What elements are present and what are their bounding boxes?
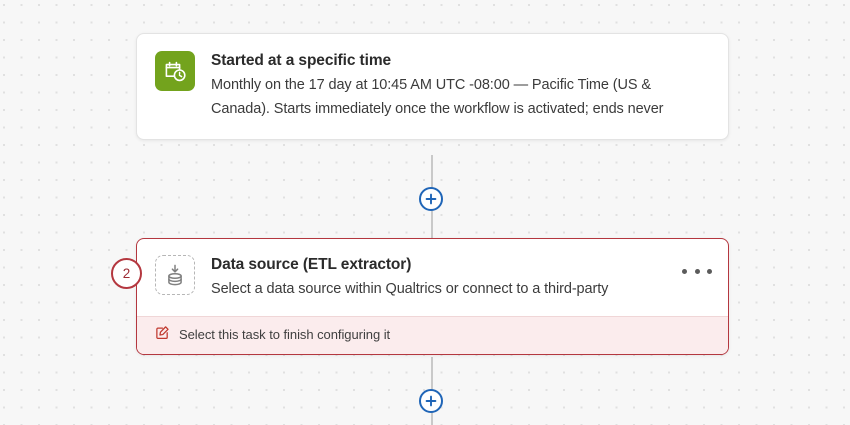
workflow-node-trigger[interactable]: Started at a specific time Monthly on th… [136, 33, 729, 140]
task-validation-text: Select this task to finish configuring i… [179, 327, 390, 342]
task-card-body: Data source (ETL extractor) Select a dat… [137, 239, 728, 316]
ellipsis-dot [695, 269, 700, 274]
ellipsis-dot [707, 269, 712, 274]
workflow-canvas: Started at a specific time Monthly on th… [0, 0, 850, 425]
calendar-clock-icon [155, 51, 195, 91]
task-card-text: Data source (ETL extractor) Select a dat… [211, 255, 710, 302]
edit-pencil-icon [155, 325, 170, 345]
trigger-card-body: Started at a specific time Monthly on th… [155, 51, 710, 121]
database-download-icon [155, 255, 195, 295]
task-description: Select a data source within Qualtrics or… [211, 278, 648, 302]
workflow-node-task[interactable]: Data source (ETL extractor) Select a dat… [136, 238, 729, 355]
plus-icon [425, 193, 437, 205]
add-step-button-2[interactable] [419, 389, 443, 413]
trigger-description: Monthly on the 17 day at 10:45 AM UTC -0… [211, 74, 706, 121]
task-title: Data source (ETL extractor) [211, 255, 648, 276]
task-validation-message: Select this task to finish configuring i… [137, 316, 728, 354]
trigger-card-text: Started at a specific time Monthly on th… [211, 51, 710, 121]
trigger-title: Started at a specific time [211, 51, 706, 72]
ellipsis-dot [682, 269, 687, 274]
plus-icon [425, 395, 437, 407]
task-options-menu-button[interactable] [682, 262, 712, 280]
step-number-badge: 2 [111, 258, 142, 289]
add-step-button-1[interactable] [419, 187, 443, 211]
